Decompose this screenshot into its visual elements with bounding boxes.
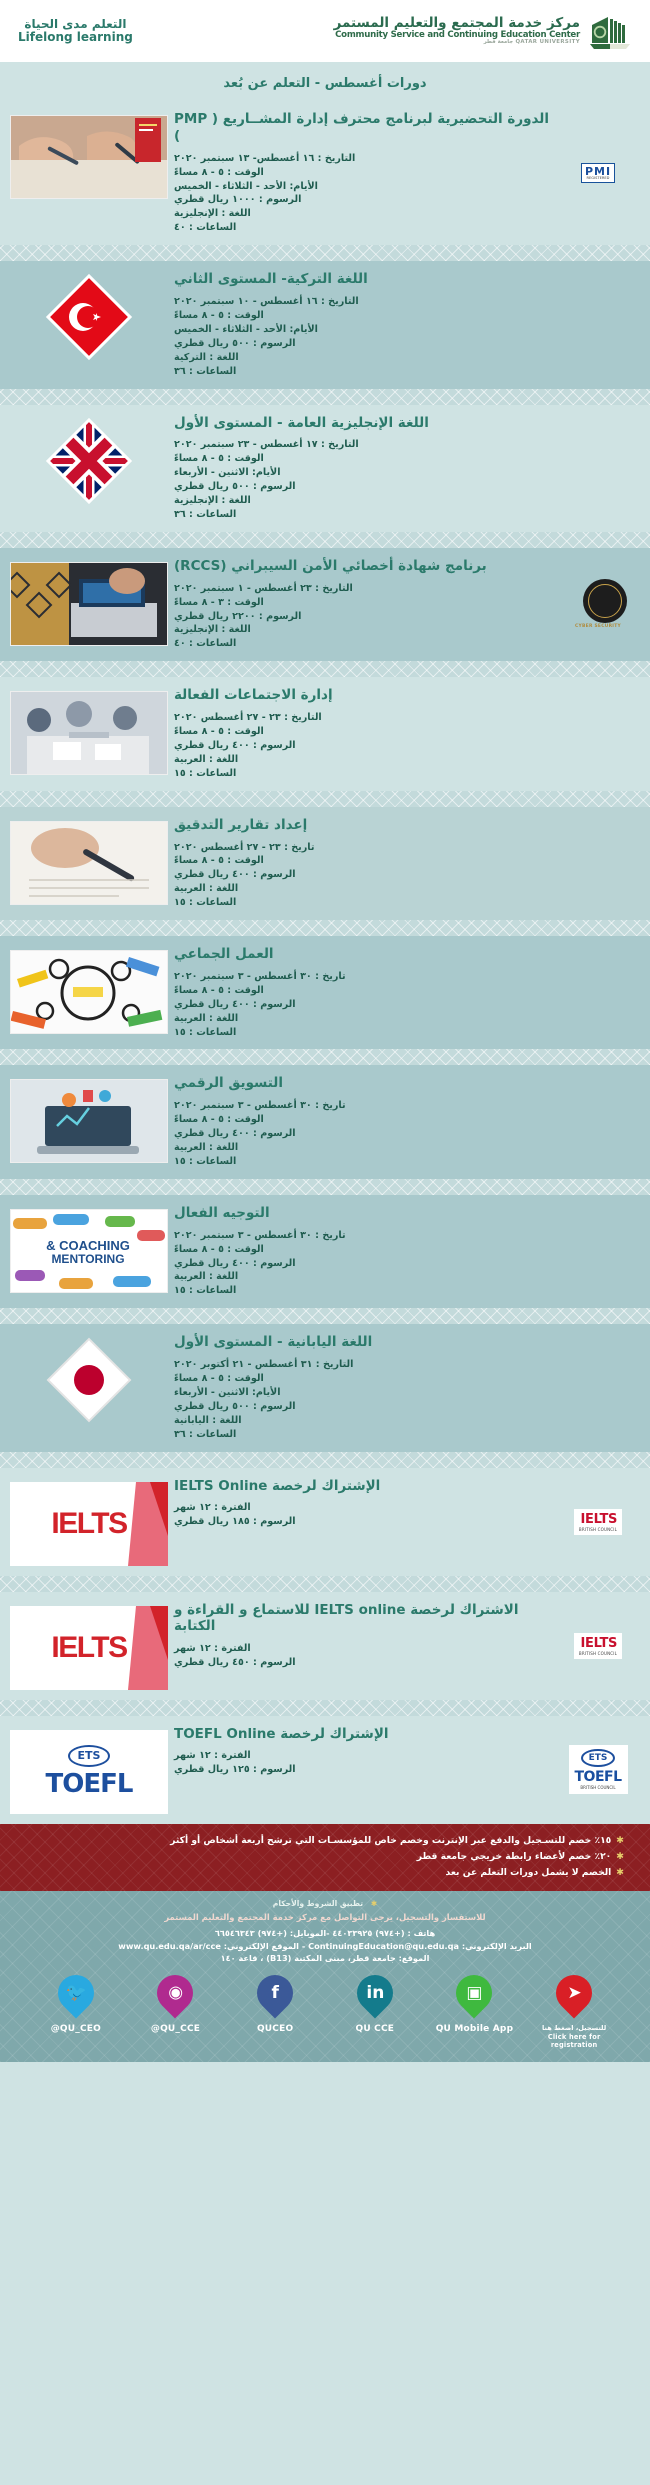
infographic-page: مركز خدمة المجتمع والتعليم المستمر Commu… bbox=[0, 0, 650, 2062]
social-linkedin[interactable]: in QU CCE bbox=[332, 1975, 418, 2034]
hands-writing-plan-photo bbox=[10, 115, 168, 199]
section-divider bbox=[0, 661, 650, 677]
course-badge bbox=[560, 699, 636, 769]
section-divider bbox=[0, 920, 650, 936]
course-detail-language: اللغة : العربية bbox=[174, 1270, 554, 1284]
course-image bbox=[10, 558, 168, 646]
course-row: PMIREGISTERED الدورة التحضيرية لبرنامج م… bbox=[0, 101, 650, 245]
course-badge: ETS TOEFLBRITISH COUNCIL bbox=[560, 1735, 636, 1805]
course-image bbox=[10, 111, 168, 199]
course-detail-date: التاريخ : ١٦ أغسطس- ١٣ سبتمبر ٢٠٢٠ bbox=[174, 152, 554, 166]
course-detail-language: اللغة : اليابانية bbox=[174, 1414, 554, 1428]
turkey-flag-diamond bbox=[43, 271, 135, 363]
course-details: التاريخ : ١٦ أغسطس- ١٣ سبتمبر ٢٠٢٠ الوقت… bbox=[174, 152, 554, 235]
social-instagram[interactable]: ◉ @QU_CCE bbox=[132, 1975, 218, 2034]
course-details: التاريخ : ١٧ أغسطس - ٢٣ سبتمبر ٢٠٢٠ الوق… bbox=[174, 438, 554, 521]
course-image: IELTS bbox=[10, 1478, 168, 1566]
svg-text:COACHING &: COACHING & bbox=[46, 1238, 130, 1253]
course-row: IELTSBRITISH COUNCIL الاشتراك لرخصة IELT… bbox=[0, 1592, 650, 1700]
course-detail-time: الوقت : ٥ - ٨ مساءً bbox=[174, 1113, 554, 1127]
bullet-star-icon: ✱ bbox=[616, 1835, 624, 1846]
brand-block: مركز خدمة المجتمع والتعليم المستمر Commu… bbox=[334, 11, 632, 51]
course-detail-language: اللغة : الإنجليزية bbox=[174, 494, 554, 508]
course-detail-fees: الرسوم : ٤٥٠ ريال قطري bbox=[174, 1656, 554, 1670]
course-title: العمل الجماعي bbox=[174, 946, 554, 963]
course-detail-date: تاريخ : ٢٣ - ٢٧ أغسطس ٢٠٢٠ bbox=[174, 841, 554, 855]
course-text: اللغة الإنجليزية العامة - المستوى الأول … bbox=[168, 415, 560, 522]
course-text: التوجيه الفعال تاريخ : ٣٠ أغسطس - ٣ سبتم… bbox=[168, 1205, 560, 1298]
course-details: تاريخ : ٣٠ أغسطس - ٣ سبتمبر ٢٠٢٠ الوقت :… bbox=[174, 970, 554, 1040]
course-detail-language: اللغة : الإنجليزية bbox=[174, 623, 554, 637]
course-detail-period: الفترة : ١٢ شهر bbox=[174, 1749, 554, 1763]
course-image bbox=[10, 415, 168, 503]
course-badge: IELTSBRITISH COUNCIL bbox=[560, 1611, 636, 1681]
masthead: مركز خدمة المجتمع والتعليم المستمر Commu… bbox=[0, 0, 650, 62]
course-image bbox=[10, 946, 168, 1034]
course-image bbox=[10, 1075, 168, 1163]
course-badge: CYBER SECURITY bbox=[560, 570, 636, 640]
course-title: الاشتراك لرخصة IELTS online للاستماع و ا… bbox=[174, 1602, 554, 1636]
course-badge: IELTSBRITISH COUNCIL bbox=[560, 1487, 636, 1557]
course-details: التاريخ : ٢٣ - ٢٧ أغسطس ٢٠٢٠ الوقت : ٥ -… bbox=[174, 711, 554, 781]
course-title: الإشتراك لرخصة TOEFL Online bbox=[174, 1726, 554, 1743]
toefl-card: ETS TOEFL bbox=[10, 1730, 168, 1814]
course-details: الفترة : ١٢ شهر الرسوم : ١٨٥ ريال قطري bbox=[174, 1501, 554, 1529]
course-detail-hours: الساعات : ١٥ bbox=[174, 1026, 554, 1040]
facebook-icon[interactable]: f bbox=[257, 1975, 293, 2021]
laptop-cyber-photo bbox=[10, 562, 168, 646]
course-detail-time: الوقت : ٥ - ٨ مساءً bbox=[174, 854, 554, 868]
notice-item: ✱١٥٪ خصم للتسـجيل والدفع عبر الإنترنت وخ… bbox=[26, 1833, 624, 1849]
course-row: إعداد تقارير التدقيق تاريخ : ٢٣ - ٢٧ أغس… bbox=[0, 807, 650, 920]
course-detail-date: تاريخ : ٣٠ أغسطس - ٣ سبتمبر ٢٠٢٠ bbox=[174, 1229, 554, 1243]
course-detail-hours: الساعات : ٤٠ bbox=[174, 221, 554, 235]
section-divider bbox=[0, 1452, 650, 1468]
tagline-en: Lifelong learning bbox=[18, 31, 133, 44]
course-text: الدورة التحضيرية لبرنامج محترف إدارة الم… bbox=[168, 111, 560, 235]
course-detail-date: تاريخ : ٣٠ أغسطس - ٣ سبتمبر ٢٠٢٠ bbox=[174, 1099, 554, 1113]
course-detail-date: التاريخ : ٢٣ أغسطس - ١ سبتمبر ٢٠٢٠ bbox=[174, 582, 554, 596]
course-row: اللغة الإنجليزية العامة - المستوى الأول … bbox=[0, 405, 650, 532]
course-details: تاريخ : ٣٠ أغسطس - ٣ سبتمبر ٢٠٢٠ الوقت :… bbox=[174, 1099, 554, 1169]
brand-university: QATAR UNIVERSITY جامعة قطر bbox=[334, 40, 580, 46]
pen-document-photo bbox=[10, 821, 168, 905]
course-detail-fees: الرسوم : ٢٢٠٠ ريال قطري bbox=[174, 610, 554, 624]
section-divider bbox=[0, 1700, 650, 1716]
course-badge: PMIREGISTERED bbox=[560, 138, 636, 208]
section-divider bbox=[0, 1308, 650, 1324]
notice-item: ✱الخصم لا يشمل دورات التعلم عن بعد bbox=[26, 1865, 624, 1881]
course-detail-hours: الساعات : ٣٦ bbox=[174, 508, 554, 522]
coaching-mentoring-illustration: COACHING & MENTORING bbox=[10, 1209, 168, 1293]
notice-item: ✱٢٠٪ خصم لأعضاء رابطة خريجي جامعة قطر bbox=[26, 1849, 624, 1865]
section-divider bbox=[0, 1576, 650, 1592]
course-title: التسويق الرقمي bbox=[174, 1075, 554, 1092]
linkedin-icon[interactable]: in bbox=[357, 1975, 393, 2021]
course-badge bbox=[560, 290, 636, 360]
course-image: ETS TOEFL bbox=[10, 1726, 168, 1814]
course-row: العمل الجماعي تاريخ : ٣٠ أغسطس - ٣ سبتمب… bbox=[0, 936, 650, 1049]
bullet-star-icon: ✱ bbox=[371, 1899, 377, 1908]
course-image: COACHING & MENTORING bbox=[10, 1205, 168, 1293]
course-detail-time: الوقت : ٥ - ٨ مساءً bbox=[174, 452, 554, 466]
course-image bbox=[10, 271, 168, 359]
course-detail-language: اللغة : الإنجليزية bbox=[174, 207, 554, 221]
course-detail-hours: الساعات : ١٥ bbox=[174, 767, 554, 781]
ielts-logo-icon: IELTSBRITISH COUNCIL bbox=[574, 1509, 622, 1535]
course-text: التسويق الرقمي تاريخ : ٣٠ أغسطس - ٣ سبتم… bbox=[168, 1075, 560, 1168]
toefl-logo-icon: ETS TOEFLBRITISH COUNCIL bbox=[569, 1745, 628, 1794]
course-detail-language: اللغة : العربية bbox=[174, 753, 554, 767]
ielts-card: IELTS bbox=[10, 1606, 168, 1690]
course-detail-time: الوقت : ٣ - ٨ مساءً bbox=[174, 596, 554, 610]
course-text: العمل الجماعي تاريخ : ٣٠ أغسطس - ٣ سبتمب… bbox=[168, 946, 560, 1039]
course-title: اللغة الإنجليزية العامة - المستوى الأول bbox=[174, 415, 554, 432]
course-badge bbox=[560, 828, 636, 898]
registration-label-ar: للتسجيل، اضغط هنا bbox=[531, 2024, 617, 2033]
section-divider bbox=[0, 791, 650, 807]
course-detail-date: تاريخ : ٣٠ أغسطس - ٣ سبتمبر ٢٠٢٠ bbox=[174, 970, 554, 984]
tagline-block: التعلم مدى الحياة Lifelong learning bbox=[18, 18, 133, 43]
course-detail-fees: الرسوم : ٤٠٠ ريال قطري bbox=[174, 1127, 554, 1141]
course-detail-hours: الساعات : ١٥ bbox=[174, 896, 554, 910]
course-detail-language: اللغة : العربية bbox=[174, 1141, 554, 1155]
course-badge bbox=[560, 1353, 636, 1423]
course-row: اللغة التركية- المستوى الثاني التاريخ : … bbox=[0, 261, 650, 388]
section-divider bbox=[0, 1049, 650, 1065]
course-badge bbox=[560, 1217, 636, 1287]
course-detail-time: الوقت : ٥ - ٨ مساءً bbox=[174, 309, 554, 323]
course-image bbox=[10, 687, 168, 775]
footer-terms: ✱ تطبيق الشروط والأحكام bbox=[20, 1899, 630, 1908]
course-badge bbox=[560, 1087, 636, 1157]
click-cursor-icon[interactable]: ➤ bbox=[556, 1975, 592, 2021]
course-detail-days: الأيام: الاثنين - الأربعاء bbox=[174, 1386, 554, 1400]
social-twitter[interactable]: 🐦 @QU_CEO bbox=[33, 1975, 119, 2034]
course-detail-hours: الساعات : ٣٦ bbox=[174, 1428, 554, 1442]
bullet-star-icon: ✱ bbox=[616, 1851, 624, 1862]
course-image: IELTS bbox=[10, 1602, 168, 1690]
course-text: إعداد تقارير التدقيق تاريخ : ٢٣ - ٢٧ أغس… bbox=[168, 817, 560, 910]
footer-phone: هاتف : (+٩٧٤) ٤٤٠٣٣٩٢٥ -الموبايل: (+٩٧٤)… bbox=[20, 1927, 630, 1940]
course-detail-date: التاريخ : ٢٣ - ٢٧ أغسطس ٢٠٢٠ bbox=[174, 711, 554, 725]
course-row: ETS TOEFLBRITISH COUNCIL الإشتراك لرخصة … bbox=[0, 1716, 650, 1824]
course-row: إدارة الاجتماعات الفعالة التاريخ : ٢٣ - … bbox=[0, 677, 650, 790]
ielts-logo-icon: IELTSBRITISH COUNCIL bbox=[574, 1633, 622, 1659]
course-details: الفترة : ١٢ شهر الرسوم : ٤٥٠ ريال قطري bbox=[174, 1642, 554, 1670]
course-detail-date: التاريخ : ١٦ أغسطس - ١٠ سبتمبر ٢٠٢٠ bbox=[174, 295, 554, 309]
svg-text:MENTORING: MENTORING bbox=[51, 1252, 124, 1266]
course-detail-period: الفترة : ١٢ شهر bbox=[174, 1642, 554, 1656]
course-detail-fees: الرسوم : ٥٠٠ ريال قطري bbox=[174, 480, 554, 494]
instagram-icon[interactable]: ◉ bbox=[157, 1975, 193, 2021]
course-detail-days: الأيام: الأحد - الثلاثاء - الخميس bbox=[174, 180, 554, 194]
course-detail-fees: الرسوم : ٤٠٠ ريال قطري bbox=[174, 998, 554, 1012]
pmi-logo-icon: PMIREGISTERED bbox=[581, 163, 615, 184]
cyber-seal-icon bbox=[583, 579, 627, 623]
laptop-digital-marketing-photo bbox=[10, 1079, 168, 1163]
course-detail-fees: الرسوم : ٤٠٠ ريال قطري bbox=[174, 868, 554, 882]
course-title: التوجيه الفعال bbox=[174, 1205, 554, 1222]
social-links: 🐦 @QU_CEO ◉ @QU_CCE f QUCEO in bbox=[20, 1975, 630, 2050]
course-detail-fees: الرسوم : ١٢٥ ريال قطري bbox=[174, 1763, 554, 1777]
course-detail-time: الوقت : ٥ - ٨ مساءً bbox=[174, 984, 554, 998]
course-detail-date: التاريخ : ١٧ أغسطس - ٢٣ سبتمبر ٢٠٢٠ bbox=[174, 438, 554, 452]
course-details: الفترة : ١٢ شهر الرسوم : ١٢٥ ريال قطري bbox=[174, 1749, 554, 1777]
social-label: @QU_CEO bbox=[33, 2024, 119, 2034]
bullet-star-icon: ✱ bbox=[616, 1867, 624, 1878]
course-title: اللغة التركية- المستوى الثاني bbox=[174, 271, 554, 288]
course-image bbox=[10, 1334, 168, 1422]
social-mobile-app[interactable]: ▣ QU Mobile App bbox=[431, 1975, 517, 2034]
course-text: الإشتراك لرخصة TOEFL Online الفترة : ١٢ … bbox=[168, 1726, 560, 1778]
course-title: الدورة التحضيرية لبرنامج محترف إدارة الم… bbox=[174, 111, 554, 145]
mobile-app-icon[interactable]: ▣ bbox=[456, 1975, 492, 2021]
footer-email[interactable]: البريد الإلكتروني: ContinuingEducation@q… bbox=[20, 1940, 630, 1953]
section-title: دورات أغسطس - التعلم عن بُعد bbox=[0, 62, 650, 101]
footer-address: الموقع: جامعة قطر، مبنى المكتبة (B13) ، … bbox=[20, 1952, 630, 1965]
course-text: إدارة الاجتماعات الفعالة التاريخ : ٢٣ - … bbox=[168, 687, 560, 780]
course-row: التوجيه الفعال تاريخ : ٣٠ أغسطس - ٣ سبتم… bbox=[0, 1195, 650, 1308]
meeting-table-photo bbox=[10, 691, 168, 775]
course-title: اللغة اليابانية - المستوى الأول bbox=[174, 1334, 554, 1351]
footer-contact-note: للاستفسار والتسجيل، يرجى التواصل مع مركز… bbox=[20, 1912, 630, 1922]
ielts-card: IELTS bbox=[10, 1482, 168, 1566]
course-title: إدارة الاجتماعات الفعالة bbox=[174, 687, 554, 704]
course-details: التاريخ : ٣١ أغسطس - ٢١ أكتوبر ٢٠٢٠ الوق… bbox=[174, 1358, 554, 1441]
course-badge bbox=[560, 958, 636, 1028]
teamwork-illustration bbox=[10, 950, 168, 1034]
course-row: التسويق الرقمي تاريخ : ٣٠ أغسطس - ٣ سبتم… bbox=[0, 1065, 650, 1178]
course-detail-days: الأيام: الاثنين - الأربعاء bbox=[174, 466, 554, 480]
section-divider bbox=[0, 532, 650, 548]
course-detail-fees: الرسوم : ١٠٠٠ ريال قطري bbox=[174, 193, 554, 207]
course-detail-language: اللغة : التركية bbox=[174, 351, 554, 365]
course-row: CYBER SECURITY برنامج شهادة أخصائي الأمن… bbox=[0, 548, 650, 661]
social-label: QUCEO bbox=[232, 2024, 318, 2034]
course-detail-fees: الرسوم : ٤٠٠ ريال قطري bbox=[174, 739, 554, 753]
course-details: تاريخ : ٣٠ أغسطس - ٣ سبتمبر ٢٠٢٠ الوقت :… bbox=[174, 1229, 554, 1299]
social-label: @QU_CCE bbox=[132, 2024, 218, 2034]
course-details: التاريخ : ٢٣ أغسطس - ١ سبتمبر ٢٠٢٠ الوقت… bbox=[174, 582, 554, 652]
uk-flag-diamond bbox=[43, 415, 135, 507]
course-badge bbox=[560, 433, 636, 503]
course-detail-language: اللغة : العربية bbox=[174, 1012, 554, 1026]
japan-flag-diamond bbox=[44, 1335, 134, 1425]
course-title: الإشتراك لرخصة IELTS Online bbox=[174, 1478, 554, 1495]
course-text: اللغة التركية- المستوى الثاني التاريخ : … bbox=[168, 271, 560, 378]
section-divider bbox=[0, 1179, 650, 1195]
course-row: اللغة اليابانية - المستوى الأول التاريخ … bbox=[0, 1324, 650, 1451]
course-detail-hours: الساعات : ٣٦ bbox=[174, 365, 554, 379]
course-detail-time: الوقت : ٥ - ٨ مساءً bbox=[174, 725, 554, 739]
course-detail-days: الأيام: الأحد - الثلاثاء - الخميس bbox=[174, 323, 554, 337]
course-row: IELTSBRITISH COUNCIL الإشتراك لرخصة IELT… bbox=[0, 1468, 650, 1576]
course-detail-hours: الساعات : ٤٠ bbox=[174, 637, 554, 651]
course-title: إعداد تقارير التدقيق bbox=[174, 817, 554, 834]
course-detail-time: الوقت : ٥ - ٨ مساءً bbox=[174, 1243, 554, 1257]
course-detail-language: اللغة : العربية bbox=[174, 882, 554, 896]
course-text: الإشتراك لرخصة IELTS Online الفترة : ١٢ … bbox=[168, 1478, 560, 1530]
course-detail-time: الوقت : ٥ - ٨ مساءً bbox=[174, 1372, 554, 1386]
course-details: التاريخ : ١٦ أغسطس - ١٠ سبتمبر ٢٠٢٠ الوق… bbox=[174, 295, 554, 378]
course-text: برنامج شهادة أخصائي الأمن السيبراني (RCC… bbox=[168, 558, 560, 651]
social-label: QU Mobile App bbox=[431, 2024, 517, 2034]
twitter-icon[interactable]: 🐦 bbox=[58, 1975, 94, 2021]
discount-notice: ✱١٥٪ خصم للتسـجيل والدفع عبر الإنترنت وخ… bbox=[0, 1824, 650, 1891]
course-detail-date: التاريخ : ٣١ أغسطس - ٢١ أكتوبر ٢٠٢٠ bbox=[174, 1358, 554, 1372]
course-detail-hours: الساعات : ١٥ bbox=[174, 1284, 554, 1298]
course-detail-time: الوقت : ٥ - ٨ مساءً bbox=[174, 166, 554, 180]
course-details: تاريخ : ٢٣ - ٢٧ أغسطس ٢٠٢٠ الوقت : ٥ - ٨… bbox=[174, 841, 554, 911]
footer: ✱ تطبيق الشروط والأحكام للاستفسار والتسج… bbox=[0, 1891, 650, 2062]
social-facebook[interactable]: f QUCEO bbox=[232, 1975, 318, 2034]
course-detail-hours: الساعات : ١٥ bbox=[174, 1155, 554, 1169]
course-detail-fees: الرسوم : ٤٠٠ ريال قطري bbox=[174, 1257, 554, 1271]
course-text: اللغة اليابانية - المستوى الأول التاريخ … bbox=[168, 1334, 560, 1441]
course-detail-fees: الرسوم : ٥٠٠ ريال قطري bbox=[174, 1400, 554, 1414]
brand-text: مركز خدمة المجتمع والتعليم المستمر Commu… bbox=[334, 17, 580, 45]
social-label: QU CCE bbox=[332, 2024, 418, 2034]
qu-cce-logo-icon bbox=[588, 11, 632, 51]
course-text: الاشتراك لرخصة IELTS online للاستماع و ا… bbox=[168, 1602, 560, 1671]
brand-name-ar: مركز خدمة المجتمع والتعليم المستمر bbox=[334, 17, 580, 31]
section-divider bbox=[0, 389, 650, 405]
registration-link[interactable]: ➤ للتسجيل، اضغط هنا Click here for regis… bbox=[531, 1975, 617, 2050]
registration-label-en: Click here for registration bbox=[531, 2033, 617, 2050]
course-title: برنامج شهادة أخصائي الأمن السيبراني (RCC… bbox=[174, 558, 554, 575]
course-detail-period: الفترة : ١٢ شهر bbox=[174, 1501, 554, 1515]
course-image bbox=[10, 817, 168, 905]
course-detail-fees: الرسوم : ٥٠٠ ريال قطري bbox=[174, 337, 554, 351]
section-divider bbox=[0, 245, 650, 261]
course-detail-fees: الرسوم : ١٨٥ ريال قطري bbox=[174, 1515, 554, 1529]
